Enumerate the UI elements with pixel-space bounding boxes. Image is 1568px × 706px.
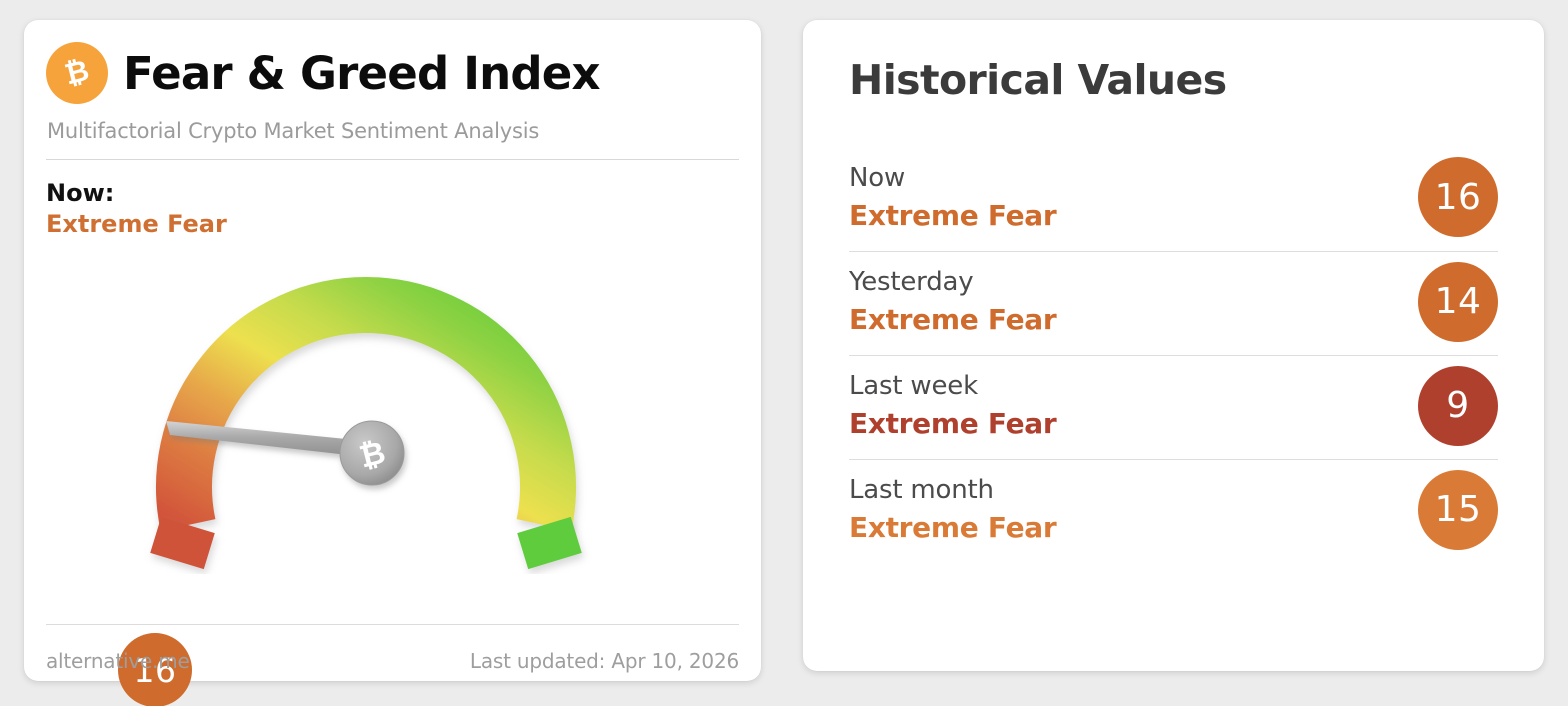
row-value-badge: 16 — [1418, 157, 1498, 237]
historical-values-card: Historical Values Now Extreme Fear 16 Ye… — [803, 20, 1544, 671]
row-period: Yesterday — [849, 267, 1056, 297]
row-classification: Extreme Fear — [849, 303, 1056, 336]
row-value-badge: 9 — [1418, 366, 1498, 446]
row-period: Now — [849, 163, 1056, 193]
source-link[interactable]: alternative.me — [46, 649, 190, 673]
page-root: ₿ Fear & Greed Index Multifactorial Cryp… — [0, 0, 1568, 706]
row-value-badge: 15 — [1418, 470, 1498, 550]
last-updated-text: Last updated: Apr 10, 2026 — [470, 649, 739, 673]
header-divider — [46, 159, 739, 160]
now-label: Now: — [46, 178, 739, 209]
row-period: Last month — [849, 475, 1056, 505]
list-item[interactable]: Last week Extreme Fear 9 — [849, 355, 1498, 459]
list-item[interactable]: Yesterday Extreme Fear 14 — [849, 251, 1498, 355]
row-classification: Extreme Fear — [849, 199, 1056, 232]
row-text: Last week Extreme Fear — [849, 371, 1056, 440]
page-title: Fear & Greed Index — [123, 51, 600, 96]
row-text: Last month Extreme Fear — [849, 475, 1056, 544]
page-subtitle: Multifactorial Crypto Market Sentiment A… — [47, 119, 739, 143]
fear-greed-gauge-card: ₿ Fear & Greed Index Multifactorial Cryp… — [24, 20, 761, 681]
row-period: Last week — [849, 371, 1056, 401]
list-item[interactable]: Last month Extreme Fear 15 — [849, 459, 1498, 563]
row-value-badge: 14 — [1418, 262, 1498, 342]
gauge-chart: ₿ 16 — [46, 245, 739, 590]
list-item[interactable]: Now Extreme Fear 16 — [849, 147, 1498, 251]
row-classification: Extreme Fear — [849, 407, 1056, 440]
svg-text:₿: ₿ — [61, 53, 92, 91]
row-text: Yesterday Extreme Fear — [849, 267, 1056, 336]
current-reading: Now: Extreme Fear — [46, 178, 739, 239]
historical-values-list: Now Extreme Fear 16 Yesterday Extreme Fe… — [849, 147, 1498, 563]
footer-divider — [46, 624, 739, 625]
bitcoin-icon: ₿ — [46, 42, 108, 104]
card-header: ₿ Fear & Greed Index — [46, 40, 739, 106]
card-footer: alternative.me Last updated: Apr 10, 202… — [46, 649, 739, 673]
row-text: Now Extreme Fear — [849, 163, 1056, 232]
row-classification: Extreme Fear — [849, 511, 1056, 544]
now-classification: Extreme Fear — [46, 209, 739, 240]
historical-values-title: Historical Values — [849, 60, 1498, 101]
